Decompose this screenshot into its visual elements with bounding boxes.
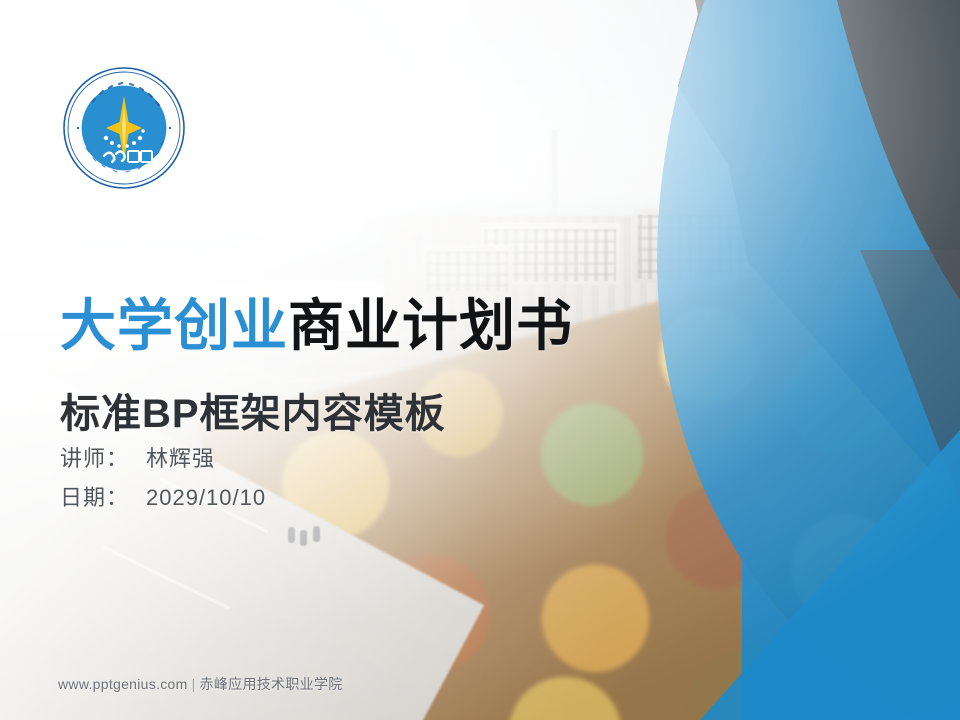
presenter-row: 讲师：林辉强 — [60, 440, 266, 479]
presenter-value: 林辉强 — [146, 446, 215, 471]
presenter-label: 讲师： — [60, 440, 146, 479]
slide-subtitle: 标准BP框架内容模板 — [60, 381, 446, 439]
slide-title: 大学创业商业计划书 — [60, 296, 573, 355]
slide-footer: www.pptgenius.com|赤峰应用技术职业学院 — [58, 674, 343, 694]
date-label: 日期： — [60, 479, 146, 518]
title-highlight-part: 大学创业 — [60, 294, 288, 357]
date-row: 日期：2029/10/10 — [60, 479, 266, 518]
date-value: 2029/10/10 — [146, 485, 266, 510]
footer-organization: 赤峰应用技术职业学院 — [200, 676, 343, 692]
title-rest-part: 商业计划书 — [288, 294, 573, 357]
footer-separator: | — [188, 676, 200, 692]
title-slide: 大学创业商业计划书 标准BP框架内容模板 讲师：林辉强 日期：2029/10/1… — [0, 0, 960, 720]
seal-icon — [62, 66, 186, 190]
slide-meta: 讲师：林辉强 日期：2029/10/10 — [60, 440, 266, 517]
footer-site: www.pptgenius.com — [58, 676, 188, 692]
institution-logo — [62, 66, 186, 190]
